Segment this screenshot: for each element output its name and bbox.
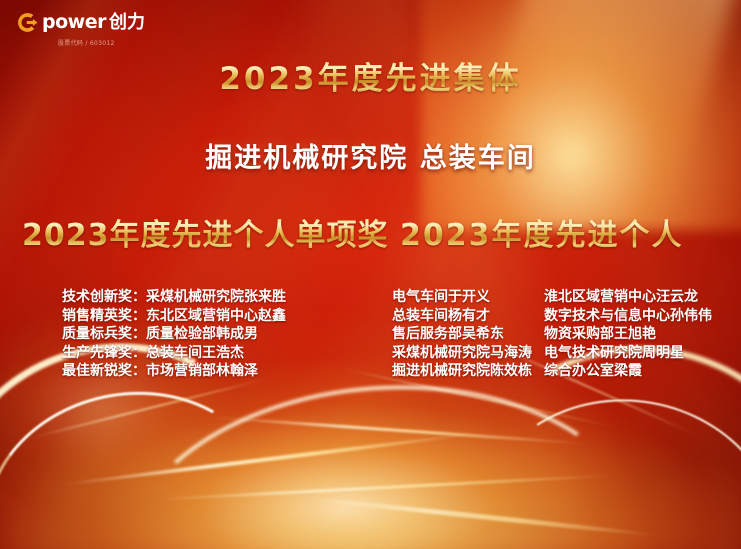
logo-wordmark: power: [42, 13, 106, 32]
list-item-col2: 数字技术与信息中心孙伟伟: [544, 307, 734, 326]
list-item: 掘进机械研究院陈效栋 综合办公室梁霞: [392, 362, 734, 381]
list-item-col2: 综合办公室梁霞: [544, 362, 734, 381]
heading-single-awards-text: 2023年度先进个人单项奖: [22, 218, 389, 253]
list-item-col1: 采煤机械研究院马海涛: [392, 344, 544, 363]
main-title: 2023年度先进集体: [0, 62, 741, 96]
list-item: 最佳新锐奖：市场营销部林翰泽: [62, 362, 286, 381]
list-item: 售后服务部吴希东 物资采购部王旭艳: [392, 325, 734, 344]
individual-award-list: 电气车间于开义 淮北区域营销中心汪云龙 总装车间杨有才 数字技术与信息中心孙伟伟…: [392, 288, 734, 381]
list-item-col2: 电气技术研究院周明星: [544, 344, 734, 363]
list-item: 销售精英奖：东北区域营销中心赵鑫: [62, 307, 286, 326]
heading-single-awards: 2023年度先进个人单项奖: [22, 219, 392, 253]
list-item: 采煤机械研究院马海涛 电气技术研究院周明星: [392, 344, 734, 363]
list-item-col1: 掘进机械研究院陈效栋: [392, 362, 544, 381]
logo-wordmark-cn: 创力: [109, 14, 145, 32]
poster-content: 2023年度先进集体 掘进机械研究院 总装车间 2023年度先进个人单项奖 20…: [0, 0, 741, 549]
list-item-col2: 淮北区域营销中心汪云龙: [544, 288, 734, 307]
list-item: 技术创新奖：采煤机械研究院张来胜: [62, 288, 286, 307]
main-title-text: 2023年度先进集体: [219, 61, 521, 97]
list-item-col2: 物资采购部王旭艳: [544, 325, 734, 344]
subtitle: 掘进机械研究院 总装车间: [0, 136, 741, 175]
logo-row: power 创力: [16, 11, 145, 34]
list-item: 总装车间杨有才 数字技术与信息中心孙伟伟: [392, 307, 734, 326]
list-item-col1: 总装车间杨有才: [392, 307, 544, 326]
power-c-plug-icon: [16, 11, 39, 34]
stock-code-label: 股票代码 / 603012: [58, 38, 115, 47]
award-poster: power 创力 股票代码 / 603012 2023年度先进集体 掘进机械研究…: [0, 0, 741, 549]
list-item-col1: 电气车间于开义: [392, 288, 544, 307]
company-logo: power 创力 股票代码 / 603012: [16, 11, 145, 47]
list-item: 生产先锋奖：总装车间王浩杰: [62, 344, 286, 363]
single-award-list: 技术创新奖：采煤机械研究院张来胜 销售精英奖：东北区域营销中心赵鑫 质量标兵奖：…: [62, 288, 286, 381]
list-item: 质量标兵奖：质量检验部韩成男: [62, 325, 286, 344]
heading-individuals-text: 2023年度先进个人: [400, 218, 684, 253]
list-item-col1: 售后服务部吴希东: [392, 325, 544, 344]
heading-individuals: 2023年度先进个人: [400, 219, 700, 253]
list-item: 电气车间于开义 淮北区域营销中心汪云龙: [392, 288, 734, 307]
